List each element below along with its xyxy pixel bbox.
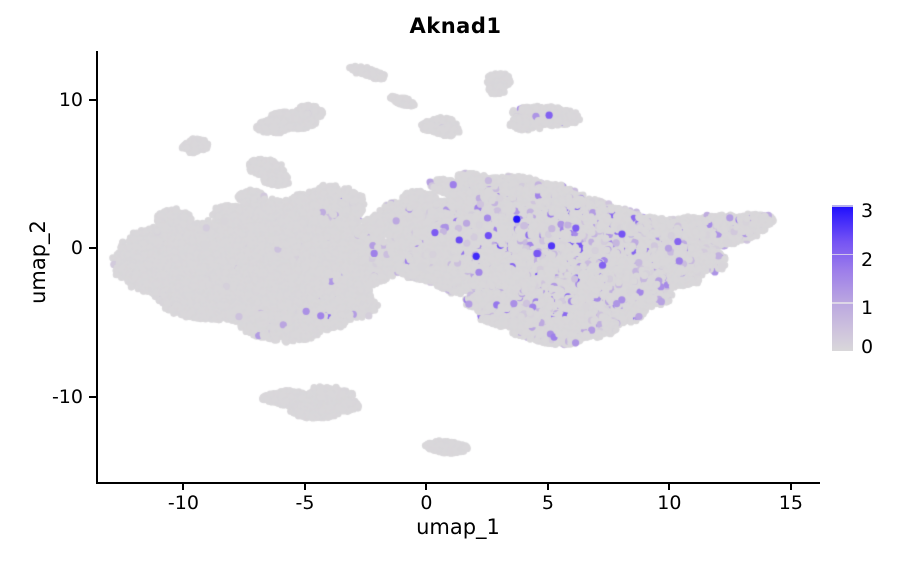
x-tick-label: 10	[657, 492, 681, 514]
colorbar-tick-label: 0	[861, 336, 873, 358]
colorbar-tick-label: 1	[861, 297, 873, 319]
x-tick-label: -10	[168, 492, 199, 514]
y-tick-mark	[89, 396, 96, 398]
chart-title: Aknad1	[0, 14, 911, 38]
colorbar-tick-mark	[832, 254, 853, 256]
scatter-canvas	[96, 52, 820, 483]
x-tick-label: 15	[779, 492, 803, 514]
y-tick-label: 10	[59, 89, 83, 111]
y-tick-mark	[89, 247, 96, 249]
x-tick-mark	[182, 483, 184, 490]
x-tick-mark	[304, 483, 306, 490]
colorbar-tick-label: 3	[861, 200, 873, 222]
y-axis-spine	[96, 51, 98, 484]
colorbar-tick-mark	[832, 205, 853, 207]
colorbar-tick-mark	[832, 302, 853, 304]
y-tick-mark	[89, 99, 96, 101]
x-tick-label: 0	[420, 492, 432, 514]
x-tick-mark	[790, 483, 792, 490]
x-tick-label: 5	[542, 492, 554, 514]
y-tick-label: 0	[71, 237, 83, 259]
y-axis-label: umap_2	[26, 162, 50, 362]
plot-area	[96, 52, 820, 483]
y-tick-label: -10	[52, 386, 83, 408]
x-tick-mark	[425, 483, 427, 490]
x-tick-mark	[668, 483, 670, 490]
colorbar-gradient	[832, 205, 853, 351]
feature-plot-figure: Aknad1 -10-5051015 100-10 umap_1 umap_2 …	[0, 0, 911, 562]
x-axis-spine	[96, 482, 820, 484]
x-tick-mark	[547, 483, 549, 490]
x-axis-label: umap_1	[96, 515, 820, 539]
x-tick-label: -5	[295, 492, 314, 514]
colorbar-tick-label: 2	[861, 249, 873, 271]
